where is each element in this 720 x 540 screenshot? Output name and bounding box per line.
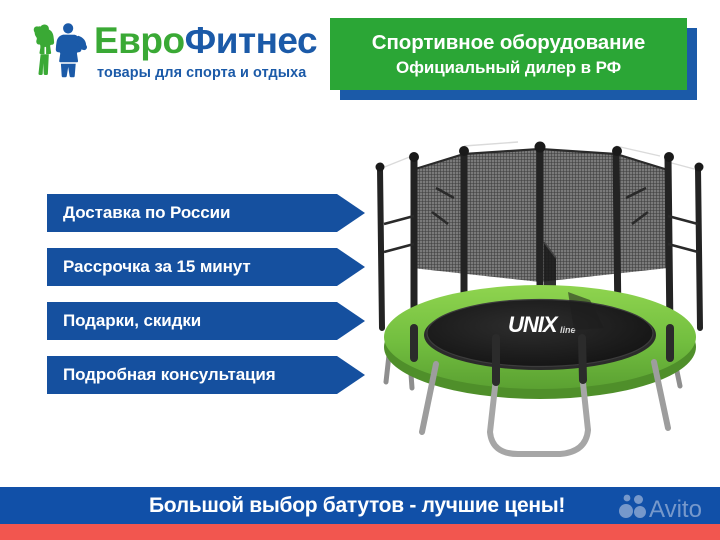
male-athlete-flexing-icon bbox=[56, 23, 87, 77]
feature-arrow-consultation[interactable]: Подробная консультация bbox=[47, 356, 365, 394]
feature-arrow-installment[interactable]: Рассрочка за 15 минут bbox=[47, 248, 365, 286]
header-banner-subtitle: Официальный дилер в РФ bbox=[396, 58, 621, 78]
feature-label: Подробная консультация bbox=[47, 365, 276, 385]
svg-text:UNIX: UNIX bbox=[508, 312, 559, 337]
brand-logo: ЕвроФитнес товары для спорта и отдыха bbox=[28, 18, 328, 84]
avito-watermark: Avito bbox=[618, 492, 714, 522]
feature-label: Рассрочка за 15 минут bbox=[47, 257, 251, 277]
feature-list: Доставка по России Рассрочка за 15 минут… bbox=[47, 194, 365, 394]
header-banner-body: Спортивное оборудование Официальный диле… bbox=[330, 18, 687, 90]
footer-tagline: Большой выбор батутов - лучшие цены! bbox=[0, 487, 720, 524]
footer-accent-stripe bbox=[0, 524, 720, 540]
brand-name-part-1: Евро bbox=[94, 20, 185, 61]
avito-wordmark: Avito bbox=[649, 496, 702, 522]
trampoline-product-image: UNIX line bbox=[368, 132, 712, 472]
brand-tagline: товары для спорта и отдыха bbox=[97, 65, 333, 81]
avito-dots-icon bbox=[619, 495, 646, 518]
feature-arrow-delivery[interactable]: Доставка по России bbox=[47, 194, 365, 232]
feature-arrow-gifts[interactable]: Подарки, скидки bbox=[47, 302, 365, 340]
feature-label: Доставка по России bbox=[47, 203, 230, 223]
footer-bar: Большой выбор батутов - лучшие цены! bbox=[0, 487, 720, 524]
promo-banner-page: ЕвроФитнес товары для спорта и отдыха Сп… bbox=[0, 0, 720, 540]
header-banner: Спортивное оборудование Официальный диле… bbox=[330, 18, 687, 90]
brand-wordmark: ЕвроФитнес bbox=[94, 18, 330, 64]
feature-label: Подарки, скидки bbox=[47, 311, 201, 331]
brand-name-part-2: Фитнес bbox=[185, 20, 317, 61]
female-athlete-icon bbox=[34, 25, 54, 76]
header-banner-title: Спортивное оборудование bbox=[372, 31, 645, 55]
svg-text:line: line bbox=[560, 325, 576, 335]
brand-figures-icon bbox=[28, 20, 96, 78]
